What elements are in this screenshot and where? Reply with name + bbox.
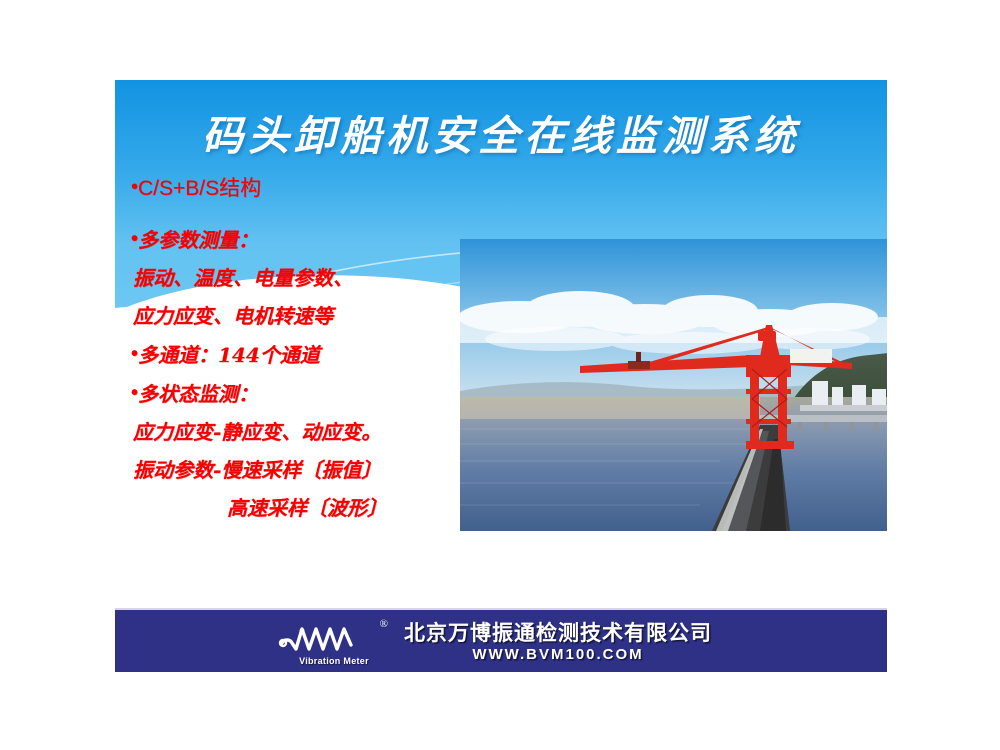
waveform-icon [278,619,390,659]
presentation-slide: 码头卸船机安全在线监测系统 •C/S+B/S结构 •多参数测量： 振动、温度、电… [115,80,887,672]
list-item-label: 应力应变-静应变、动应变。 [133,420,381,444]
bullet-marker: • [131,382,138,404]
logo-label: Vibration Meter [284,656,384,666]
list-item: 应力应变、电机转速等 [131,297,511,335]
list-item: 应力应变-静应变、动应变。 [131,413,511,451]
list-item-label: 多状态监测： [138,382,258,406]
vibration-meter-logo: ® Vibration Meter [278,619,390,665]
bullet-marker: • [131,228,138,250]
company-identity: 北京万博振通检测技术有限公司 WWW.BVM100.COM [404,622,712,662]
bullet-list: •C/S+B/S结构 •多参数测量： 振动、温度、电量参数、 应力应变、电机转速… [131,168,511,527]
bullet-marker: • [131,343,138,365]
list-item-label: C/S+B/S结构 [138,177,261,200]
list-item: 振动参数-慢速采样〔振值〕 [131,451,511,489]
list-item-label: 振动参数-慢速采样〔振值〕 [133,458,381,482]
list-item: •多参数测量： [131,220,511,259]
list-item-label: 高速采样〔波形〕 [227,496,387,520]
registered-trademark-icon: ® [380,618,388,630]
list-item-label: 应力应变、电机转速等 [133,304,333,328]
crane-photo [460,239,887,531]
list-item: 高速采样〔波形〕 [131,489,511,527]
list-item-label: 振动、温度、电量参数、 [133,266,353,290]
page-title: 码头卸船机安全在线监测系统 [115,102,887,162]
list-item: •C/S+B/S结构 [131,168,511,208]
list-item: 振动、温度、电量参数、 [131,259,511,297]
company-name: 北京万博振通检测技术有限公司 [404,622,712,643]
bullet-marker: • [131,176,138,198]
list-item-label: 多参数测量： [138,228,258,252]
list-item-label: 多通道：144个通道 [138,343,320,367]
footer-bar: ® Vibration Meter 北京万博振通检测技术有限公司 WWW.BVM… [115,608,887,672]
list-item: •多通道：144个通道 [131,335,511,374]
company-website: WWW.BVM100.COM [472,647,643,662]
list-item: •多状态监测： [131,374,511,413]
